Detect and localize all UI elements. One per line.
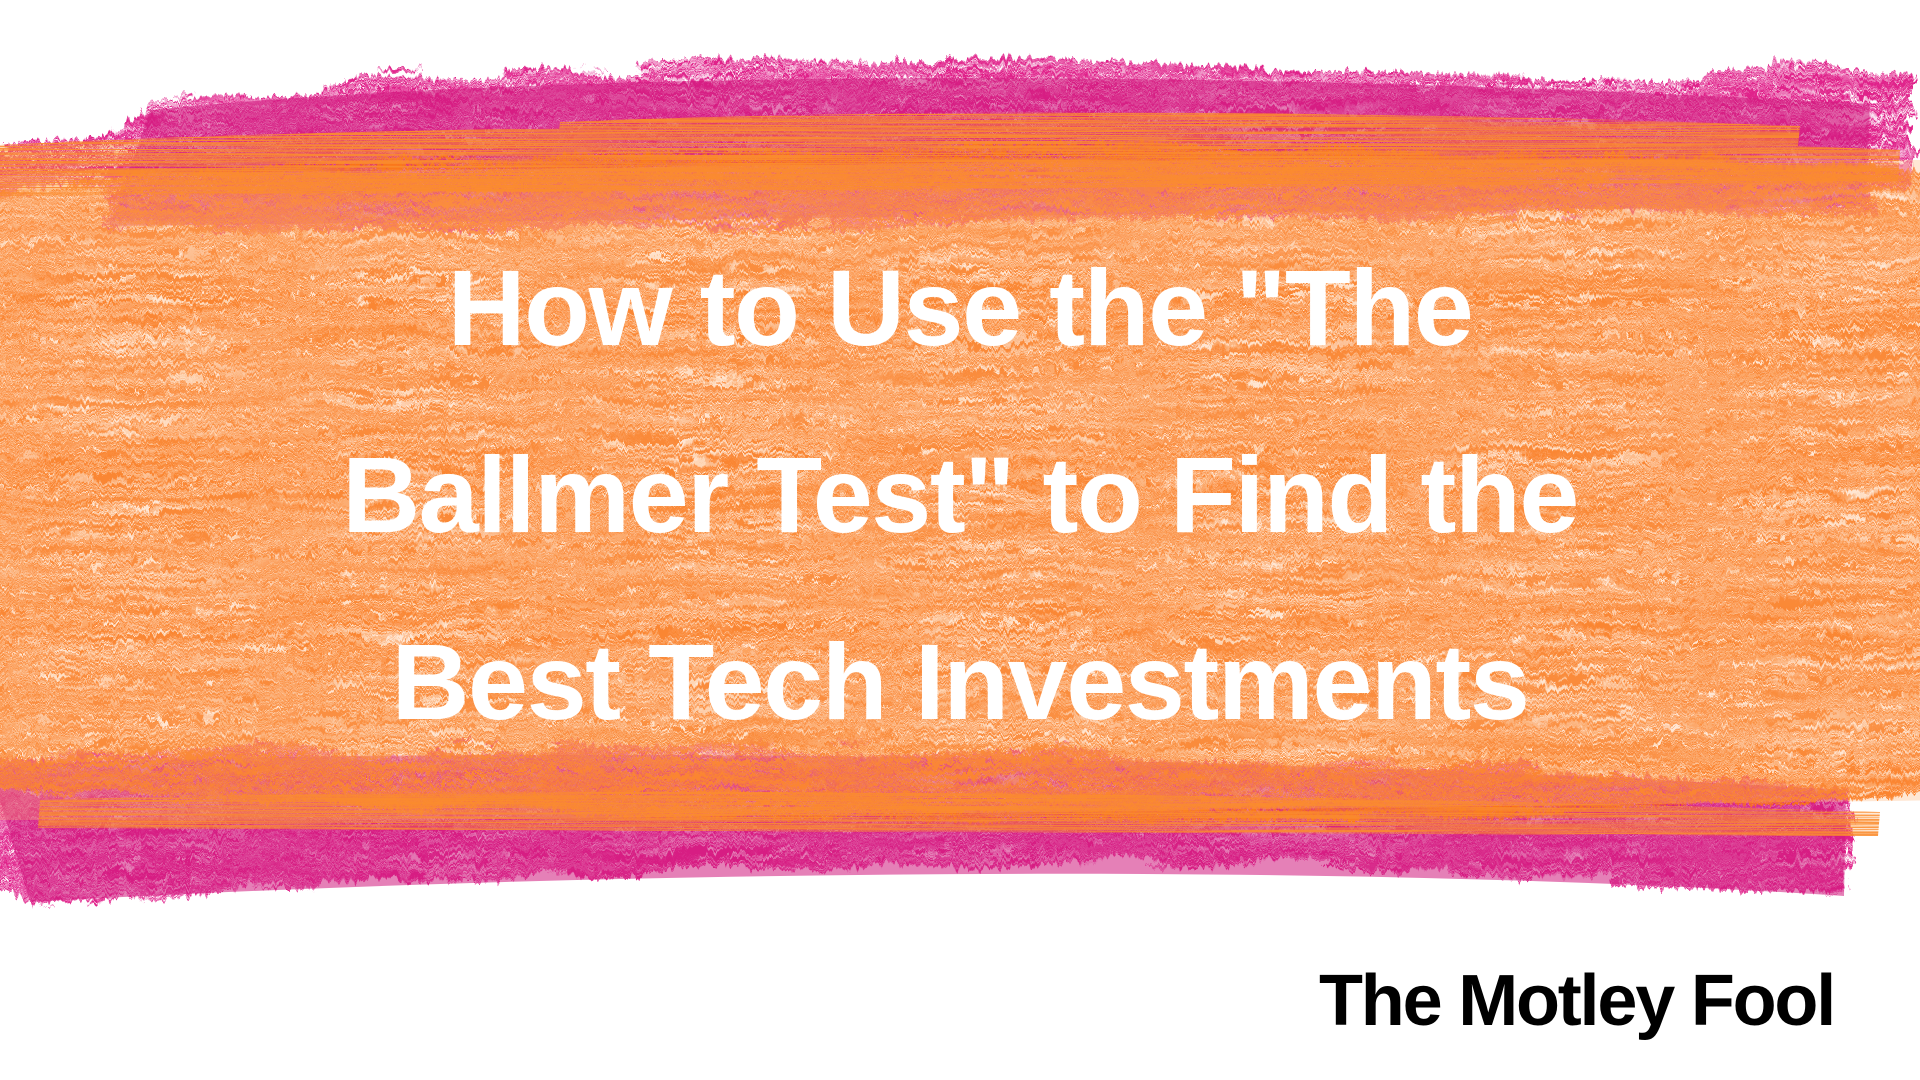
logo-wordmark: The Motley Fool [1319, 962, 1834, 1040]
brush-stroke-artwork [0, 0, 1920, 1080]
orange-brush-stroke [0, 113, 1920, 836]
the-motley-fool-logo: The Motley Fool [1319, 962, 1834, 1040]
social-share-card: How to Use the "The Ballmer Test" to Fin… [0, 0, 1920, 1080]
